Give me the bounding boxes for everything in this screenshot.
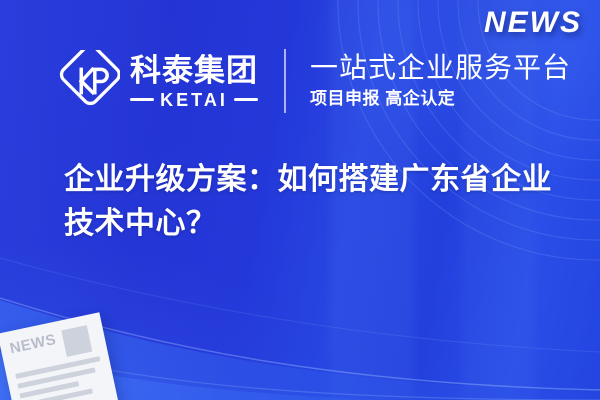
headline-title: 企业升级方案：如何搭建广东省企业技术中心？ [64, 158, 572, 246]
newspaper-thumbnail-icon [61, 325, 92, 357]
news-banner: NEWS 科泰集团 KETAI 一站式企业服务平台 项目申报 高企认定 [0, 0, 600, 400]
brand-logo[interactable]: 科泰集团 KETAI [58, 50, 258, 112]
wordmark-dash-right [234, 98, 258, 101]
newspaper-masthead: NEWS [8, 331, 58, 357]
news-badge: NEWS [484, 6, 582, 40]
brand-name-en-row: KETAI [130, 91, 258, 109]
tagline-main: 一站式企业服务平台 [310, 51, 571, 85]
header-divider [284, 49, 286, 113]
brand-wordmark: 科泰集团 KETAI [130, 54, 258, 109]
brand-name-cn: 科泰集团 [130, 54, 258, 88]
brand-name-en: KETAI [160, 91, 228, 109]
tagline-sub: 项目申报 高企认定 [310, 87, 571, 111]
banner-header: 科泰集团 KETAI 一站式企业服务平台 项目申报 高企认定 [58, 42, 571, 120]
ketai-kp-monogram-icon [58, 50, 120, 112]
tagline-block: 一站式企业服务平台 项目申报 高企认定 [310, 51, 571, 111]
wordmark-dash-left [130, 98, 154, 101]
